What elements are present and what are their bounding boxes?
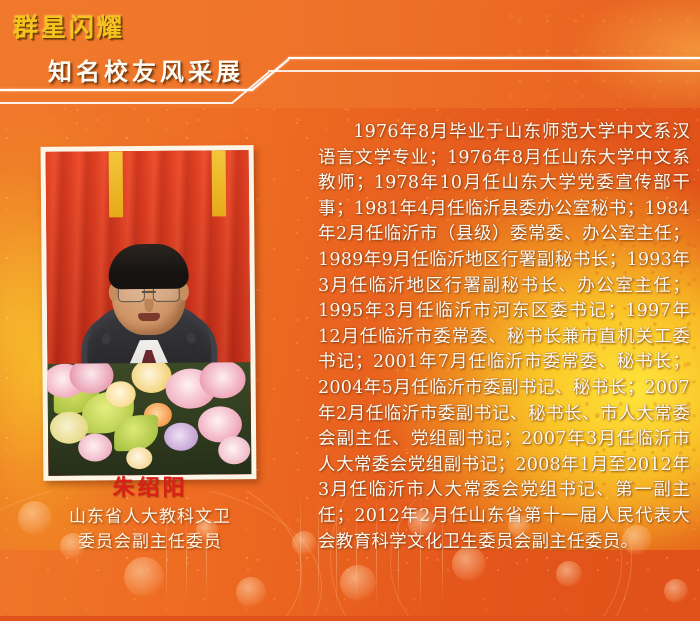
bokeh-circle — [508, 515, 530, 537]
flower — [199, 362, 245, 398]
header-rule-right-secondary — [268, 70, 700, 72]
bottom-decoration — [0, 491, 700, 621]
bokeh-circle — [622, 525, 652, 555]
flower — [106, 381, 136, 407]
header-rule-secondary — [0, 102, 233, 104]
portrait-frame — [41, 145, 257, 481]
header-rule-primary — [0, 89, 253, 91]
bokeh-circle — [196, 519, 218, 541]
flower — [78, 433, 112, 461]
bokeh-circle — [452, 547, 486, 581]
bokeh-circle — [340, 565, 376, 601]
bokeh-circle — [292, 531, 316, 555]
light-streak — [376, 493, 377, 611]
portrait-photo — [46, 150, 252, 476]
slide-canvas: 群星闪耀 知名校友风采展 — [0, 0, 700, 621]
light-streak — [442, 503, 443, 603]
flower — [164, 423, 198, 451]
bokeh-circle — [664, 579, 688, 603]
light-streak — [318, 497, 319, 609]
yellow-banner-right — [212, 150, 227, 216]
flower — [218, 436, 250, 464]
page-title: 群星闪耀 — [13, 8, 125, 44]
light-streak — [398, 499, 399, 609]
biography-text: 1976年8月毕业于山东师范大学中文系汉语言文学专业；1976年8月任山东大学中… — [318, 120, 690, 555]
light-streak — [336, 491, 337, 615]
page-subtitle: 知名校友风采展 — [48, 52, 244, 87]
yellow-banner-left — [109, 151, 124, 217]
light-streak — [166, 509, 167, 605]
bokeh-circle — [60, 533, 86, 559]
flower — [126, 447, 152, 469]
bokeh-circle — [124, 557, 164, 597]
nose — [144, 299, 153, 312]
mouth — [138, 313, 160, 321]
bokeh-circle — [408, 509, 436, 537]
light-streak — [186, 515, 187, 603]
flower-arrangement — [47, 362, 251, 476]
header-rule-right-primary — [288, 57, 700, 59]
hair — [108, 244, 188, 290]
bokeh-circle — [236, 577, 266, 607]
bokeh-circle — [556, 561, 582, 587]
eyeglass-bridge — [141, 291, 155, 293]
bokeh-circle — [18, 501, 52, 535]
header-speckle — [500, 0, 700, 108]
bottom-edge-strip — [0, 616, 700, 621]
